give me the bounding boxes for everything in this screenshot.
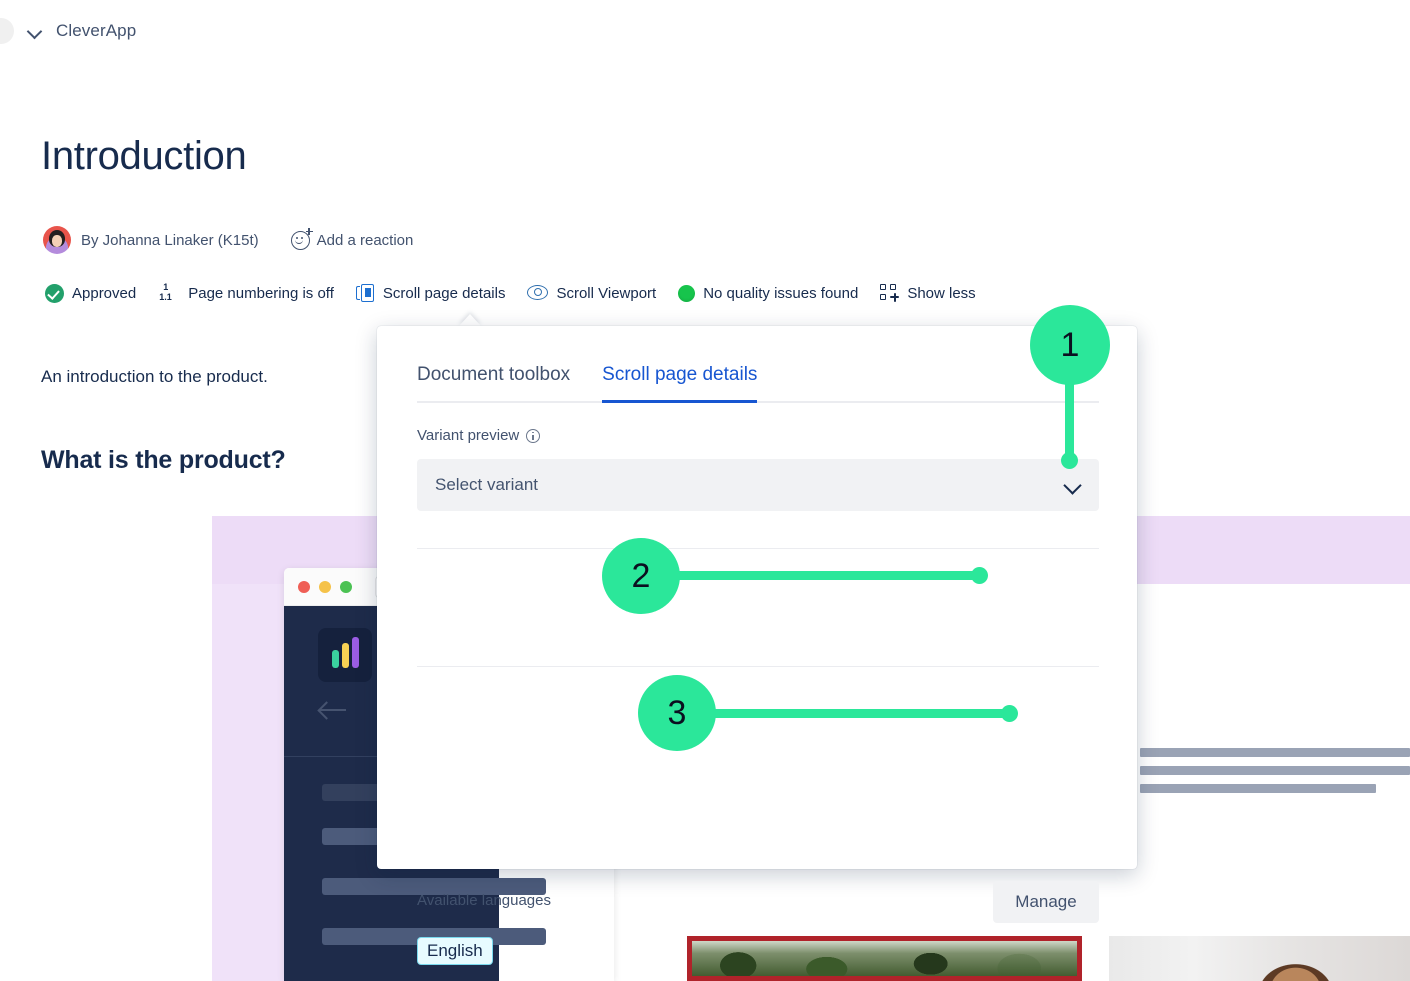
status-quality[interactable]: No quality issues found xyxy=(678,285,858,302)
status-page-numbering-label: Page numbering is off xyxy=(188,285,334,302)
traffic-light-minimize-icon xyxy=(319,581,331,593)
space-avatar xyxy=(0,18,14,44)
status-approved-label: Approved xyxy=(72,285,136,302)
intro-paragraph: An introduction to the product. xyxy=(41,367,268,387)
back-arrow-icon xyxy=(320,709,346,711)
annotation-connector-1 xyxy=(1065,381,1074,461)
check-circle-icon xyxy=(45,284,64,303)
page-title: Introduction xyxy=(41,134,246,179)
author-label: By Johanna Linaker (K15t) xyxy=(81,232,259,249)
status-scroll-viewport-label: Scroll Viewport xyxy=(556,285,656,302)
add-reaction-label: Add a reaction xyxy=(317,232,414,249)
annotation-endpoint-1 xyxy=(1061,452,1078,469)
avatar[interactable] xyxy=(43,226,71,254)
annotation-connector-3 xyxy=(695,709,1015,718)
smiley-plus-icon xyxy=(291,231,310,250)
traffic-light-close-icon xyxy=(298,581,310,593)
annotation-endpoint-2 xyxy=(971,567,988,584)
variant-preview-label: Variant preview xyxy=(417,427,540,444)
scroll-page-details-panel: Document toolbox Scroll page details Var… xyxy=(377,326,1137,869)
status-row: Approved 1 1.1 Page numbering is off Scr… xyxy=(45,283,998,303)
numbering-icon-bottom: 1.1 xyxy=(159,293,172,302)
photo-portrait xyxy=(1109,936,1410,981)
available-languages-label-text: Available languages xyxy=(417,892,551,909)
quality-status-icon xyxy=(678,285,695,302)
numbering-icon-top: 1 xyxy=(163,283,168,292)
annotation-marker-1: 1 xyxy=(1030,305,1110,385)
status-quality-label: No quality issues found xyxy=(703,285,858,302)
bar-chart-logo-icon xyxy=(318,628,372,682)
chevron-down-icon xyxy=(1065,477,1081,493)
annotation-marker-2: 2 xyxy=(602,538,680,614)
tab-scroll-page-details[interactable]: Scroll page details xyxy=(602,364,757,403)
annotation-connector-2 xyxy=(660,571,985,580)
traffic-light-maximize-icon xyxy=(340,581,352,593)
tab-document-toolbox[interactable]: Document toolbox xyxy=(417,364,570,401)
info-icon[interactable] xyxy=(526,429,540,443)
variant-select[interactable]: Select variant xyxy=(417,459,1099,511)
photo-foliage xyxy=(687,936,1082,981)
mockup-text-placeholder-lines xyxy=(1140,748,1410,802)
variant-select-value: Select variant xyxy=(435,475,1065,495)
byline: By Johanna Linaker (K15t) Add a reaction xyxy=(43,226,413,254)
show-less-label: Show less xyxy=(907,285,975,302)
status-scroll-page-details-label: Scroll page details xyxy=(383,285,506,302)
status-scroll-viewport[interactable]: Scroll Viewport xyxy=(527,285,656,302)
annotation-endpoint-3 xyxy=(1001,705,1018,722)
show-less-button[interactable]: Show less xyxy=(880,284,975,302)
language-chip-english[interactable]: English xyxy=(417,937,493,965)
panel-tabs: Document toolbox Scroll page details xyxy=(417,364,1099,403)
annotation-marker-3: 3 xyxy=(638,675,716,751)
available-languages-label: Available languages xyxy=(417,892,551,909)
manage-button[interactable]: Manage xyxy=(993,881,1099,923)
variant-preview-label-text: Variant preview xyxy=(417,427,519,444)
panel-divider xyxy=(417,548,1099,549)
viewport-eye-icon xyxy=(527,285,548,301)
add-reaction-button[interactable]: Add a reaction xyxy=(291,231,414,250)
status-scroll-page-details[interactable]: Scroll page details xyxy=(356,284,506,303)
panel-caret-icon xyxy=(459,314,481,326)
status-approved[interactable]: Approved xyxy=(45,284,136,303)
numbering-icon: 1 1.1 xyxy=(158,283,180,303)
chevron-down-icon[interactable] xyxy=(28,24,42,38)
status-page-numbering[interactable]: 1 1.1 Page numbering is off xyxy=(158,283,334,303)
breadcrumb: CleverApp xyxy=(0,0,1410,62)
panel-divider xyxy=(417,666,1099,667)
page-details-icon xyxy=(356,284,375,303)
grid-plus-icon xyxy=(880,284,899,302)
section-heading: What is the product? xyxy=(41,446,286,475)
breadcrumb-space-name[interactable]: CleverApp xyxy=(56,21,136,41)
